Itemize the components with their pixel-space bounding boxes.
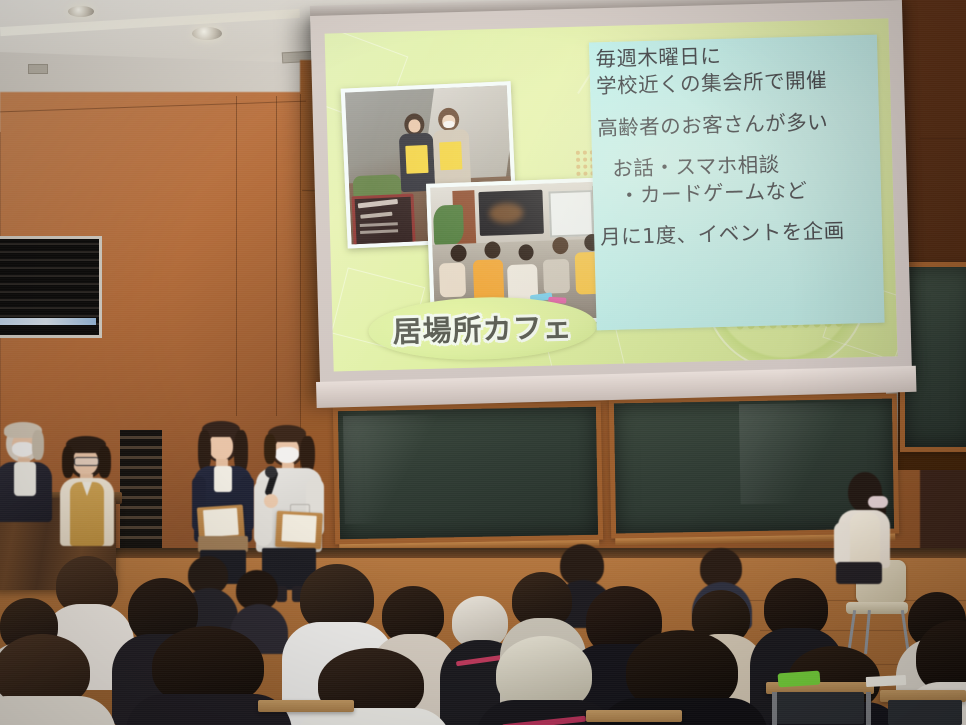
slide-text-line: 高齢者のお客さんが多い	[597, 107, 878, 142]
microphone-head	[265, 466, 277, 478]
ceiling-downlight	[192, 27, 222, 40]
seated-student-right	[836, 472, 896, 582]
chalkboard-left	[333, 402, 603, 545]
desk-leg	[772, 692, 777, 725]
student-desk	[586, 710, 682, 722]
stage-front-edge	[0, 548, 966, 558]
window-light-strip	[0, 318, 96, 325]
presenter-with-microphone	[256, 428, 324, 592]
wall-seam	[236, 96, 237, 416]
presentation-photo-scene: 居場所カフェ 毎週木曜日に 学校近くの集会所で開催 高齢者のお客さんが多い お話…	[0, 0, 966, 725]
glasses-icon	[74, 457, 99, 466]
chair-leg	[864, 610, 871, 654]
presenter-at-podium-left	[0, 424, 56, 534]
desk-drawer	[776, 692, 864, 724]
desk-drawer	[888, 700, 962, 725]
projection-screen: 居場所カフェ 毎週木曜日に 学校近くの集会所で開催 高齢者のお客さんが多い お話…	[310, 0, 912, 392]
projected-slide: 居場所カフェ 毎週木曜日に 学校近くの集会所で開催 高齢者のお客さんが多い お話…	[325, 18, 898, 371]
desk-leg	[866, 692, 871, 725]
green-cloth-item	[778, 671, 821, 688]
wall-seam	[920, 138, 966, 139]
slide-text-block: 毎週木曜日に 学校近くの集会所で開催 高齢者のお客さんが多い お話・スマホ相談 …	[595, 39, 880, 252]
ceiling-vent	[28, 64, 48, 74]
paper-sheet	[866, 675, 906, 687]
clipboard	[275, 511, 323, 549]
slide-badge-label: 居場所カフェ	[384, 304, 581, 351]
face-mask	[275, 447, 299, 463]
student-desk	[258, 700, 354, 712]
presenter-at-podium-right	[58, 438, 120, 550]
hair-bow	[868, 496, 888, 508]
ceiling-downlight	[68, 6, 94, 17]
wall-slat-panel	[120, 430, 162, 550]
wall-seam	[276, 96, 277, 416]
